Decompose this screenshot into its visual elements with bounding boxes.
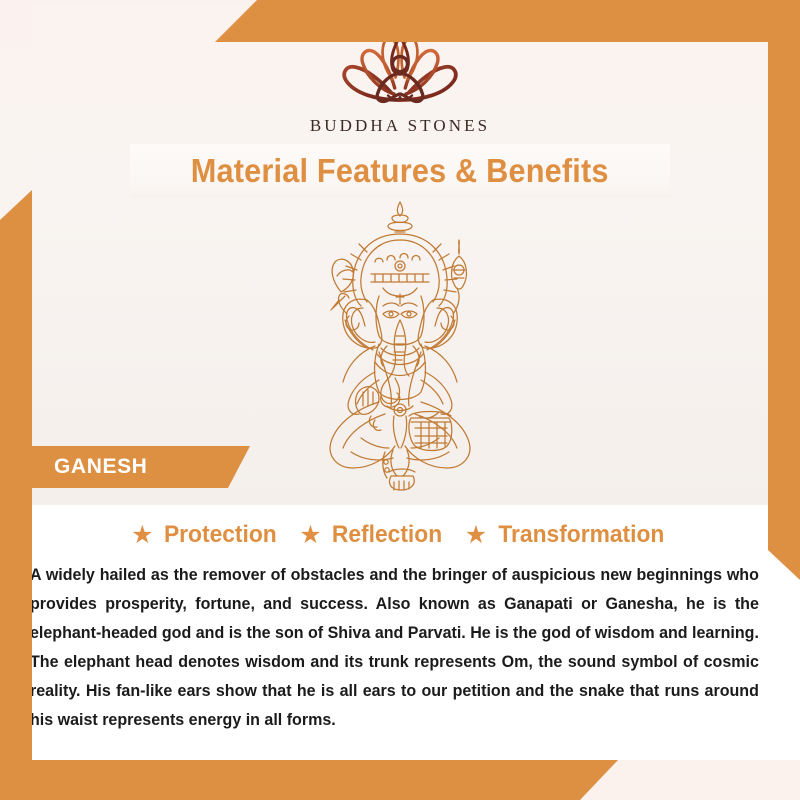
feature-label-transformation: Transformation <box>498 521 664 549</box>
feature-label-protection: Protection <box>164 521 277 549</box>
page-title: Material Features & Benefits <box>191 152 609 190</box>
feature-item-reflection: ★ Reflection <box>299 521 444 549</box>
star-icon: ★ <box>465 523 487 548</box>
feature-item-transformation: ★ Transformation <box>465 521 669 549</box>
star-icon: ★ <box>131 523 153 548</box>
frame-band-bottom <box>0 760 618 800</box>
feature-item-protection: ★ Protection <box>131 521 279 549</box>
content-panel: ★ Protection ★ Reflection ★ Transformati… <box>0 505 800 760</box>
deity-name-label: GANESH <box>54 455 147 479</box>
ganesha-line-art-illustration <box>275 196 525 496</box>
brand-name: BUDDHA STONES <box>310 116 490 136</box>
feature-list: ★ Protection ★ Reflection ★ Transformati… <box>30 521 770 549</box>
description-paragraph: A widely hailed as the remover of obstac… <box>30 561 759 735</box>
feature-label-reflection: Reflection <box>332 521 442 549</box>
star-icon: ★ <box>299 523 321 548</box>
deity-name-ribbon: GANESH <box>0 446 250 488</box>
lotus-meditation-figure-icon <box>325 22 475 110</box>
brand-logo: BUDDHA STONES <box>0 22 800 136</box>
page-title-banner: Material Features & Benefits <box>130 144 670 198</box>
